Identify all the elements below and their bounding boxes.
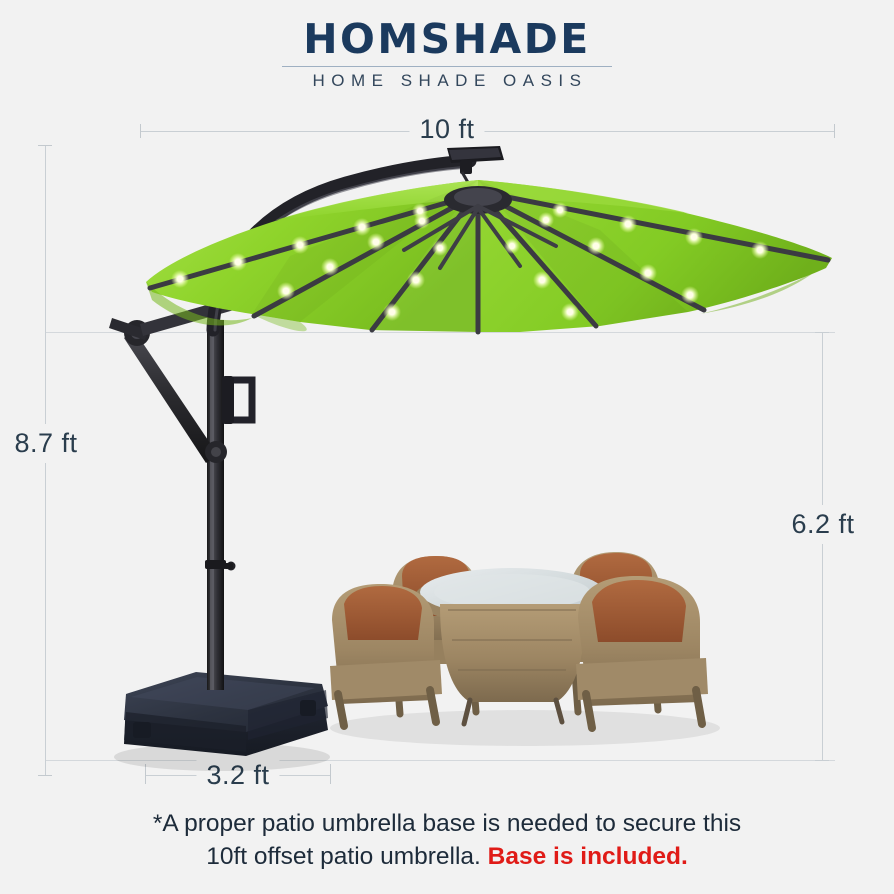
caption-line-2: 10ft offset patio umbrella. Base is incl… — [0, 841, 894, 874]
umbrella-pole — [205, 320, 236, 690]
chair-front-right — [576, 576, 708, 728]
product-illustration — [0, 0, 894, 894]
patio-furniture-set — [330, 552, 720, 746]
umbrella-canopy — [146, 180, 832, 332]
caption-highlight: Base is included. — [488, 843, 688, 870]
product-infographic: HOMSHADE HOME SHADE OASIS 10 ft 8.7 ft 6… — [0, 0, 894, 894]
crank-handle — [222, 376, 252, 424]
caption: *A proper patio umbrella base is needed … — [0, 808, 894, 873]
caption-line-1: *A proper patio umbrella base is needed … — [0, 808, 894, 841]
chair-front-left — [330, 584, 442, 726]
caption-line-2-prefix: 10ft offset patio umbrella. — [206, 843, 487, 870]
